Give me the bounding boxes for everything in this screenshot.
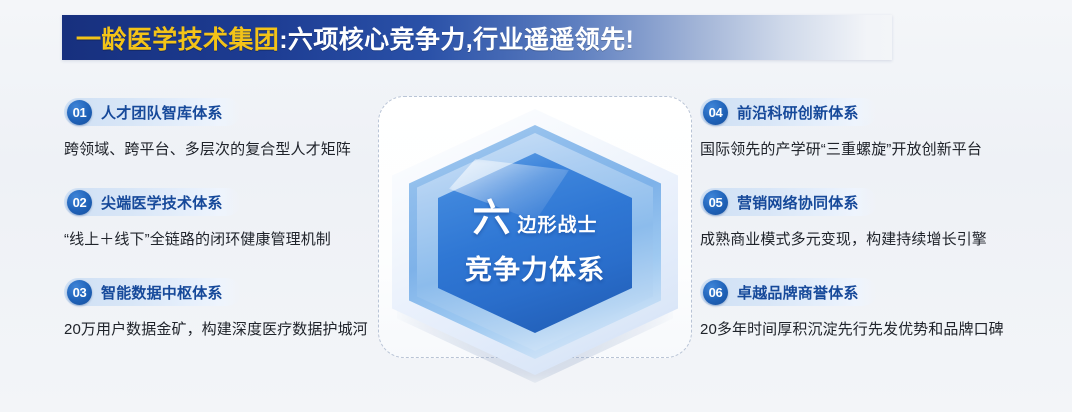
feature-desc-04: 国际领先的产学研“三重螺旋”开放创新平台: [700, 138, 1050, 159]
hexagon-graphic: 六 边形战士 竞争力体系: [383, 103, 687, 385]
feature-item-05[interactable]: 05 营销网络协同体系 成熟商业模式多元变现，构建持续增长引擎: [700, 188, 1050, 256]
feature-number-badge-06: 06: [703, 280, 728, 305]
feature-number-badge-05: 05: [703, 190, 728, 215]
feature-pill-06: 06 卓越品牌商誉体系: [700, 278, 877, 306]
feature-pill-02: 02 尖端医学技术体系: [64, 188, 241, 216]
feature-number-badge-04: 04: [703, 100, 728, 125]
feature-title-06: 卓越品牌商誉体系: [737, 282, 859, 303]
feature-title-01: 人才团队智库体系: [101, 102, 223, 123]
feature-pill-03: 03 智能数据中枢体系: [64, 278, 241, 306]
hexagon-label: 六 边形战士 竞争力体系: [438, 153, 632, 333]
feature-number-badge-01: 01: [67, 100, 92, 125]
feature-column-left: 01 人才团队智库体系 跨领域、跨平台、多层次的复合型人才矩阵 02 尖端医学技…: [64, 98, 394, 346]
hexagon-label-line1: 六 边形战士: [472, 200, 597, 238]
feature-pill-01: 01 人才团队智库体系: [64, 98, 241, 126]
feature-pill-04: 04 前沿科研创新体系: [700, 98, 877, 126]
feature-desc-02: “线上＋线下”全链路的闭环健康管理机制: [64, 228, 394, 249]
feature-number-badge-03: 03: [67, 280, 92, 305]
feature-desc-05: 成熟商业模式多元变现，构建持续增长引擎: [700, 228, 1050, 249]
feature-title-05: 营销网络协同体系: [737, 192, 859, 213]
feature-item-02[interactable]: 02 尖端医学技术体系 “线上＋线下”全链路的闭环健康管理机制: [64, 188, 394, 256]
hexagon-big-char: 六: [472, 200, 511, 238]
feature-item-04[interactable]: 04 前沿科研创新体系 国际领先的产学研“三重螺旋”开放创新平台: [700, 98, 1050, 166]
banner-subtitle: :六项核心竞争力,行业遥遥领先!: [279, 20, 634, 56]
feature-desc-06: 20多年时间厚积沉淀先行先发优势和品牌口碑: [700, 318, 1050, 339]
feature-number-badge-02: 02: [67, 190, 92, 215]
feature-item-01[interactable]: 01 人才团队智库体系 跨领域、跨平台、多层次的复合型人才矩阵: [64, 98, 394, 166]
feature-item-03[interactable]: 03 智能数据中枢体系 20万用户数据金矿，构建深度医疗数据护城河: [64, 278, 394, 346]
feature-pill-05: 05 营销网络协同体系: [700, 188, 877, 216]
feature-title-02: 尖端医学技术体系: [101, 192, 223, 213]
title-banner-text: 一龄医学技术集团:六项核心竞争力,行业遥遥领先!: [62, 20, 634, 56]
hexagon-label-line2: 竞争力体系: [465, 248, 605, 287]
banner-company-name: 一龄医学技术集团: [76, 20, 279, 56]
feature-desc-01: 跨领域、跨平台、多层次的复合型人才矩阵: [64, 138, 394, 159]
feature-title-03: 智能数据中枢体系: [101, 282, 223, 303]
hexagon-line1-rest: 边形战士: [518, 210, 598, 237]
feature-item-06[interactable]: 06 卓越品牌商誉体系 20多年时间厚积沉淀先行先发优势和品牌口碑: [700, 278, 1050, 346]
feature-desc-03: 20万用户数据金矿，构建深度医疗数据护城河: [64, 318, 394, 339]
feature-column-right: 04 前沿科研创新体系 国际领先的产学研“三重螺旋”开放创新平台 05 营销网络…: [700, 98, 1050, 346]
feature-title-04: 前沿科研创新体系: [737, 102, 859, 123]
title-banner: 一龄医学技术集团:六项核心竞争力,行业遥遥领先!: [62, 15, 892, 60]
infographic-page: 一龄医学技术集团:六项核心竞争力,行业遥遥领先! 01 人才团队智库体系 跨领域…: [0, 0, 1072, 412]
